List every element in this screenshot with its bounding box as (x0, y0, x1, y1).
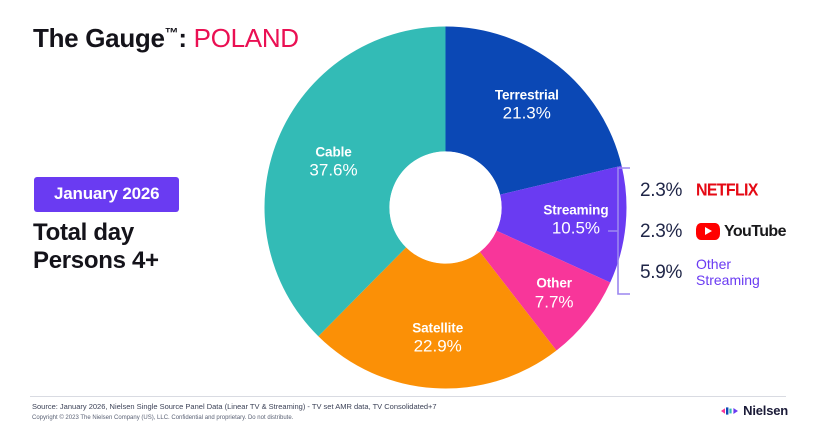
netflix-percent: 2.3% (640, 180, 696, 202)
nielsen-logo: Nielsen (721, 403, 788, 418)
slice-label-value: 22.9% (412, 337, 463, 356)
footer-divider (30, 396, 786, 397)
youtube-play-icon (696, 223, 720, 240)
month-badge: January 2026 (34, 177, 179, 212)
other-streaming-line-1: Other (696, 256, 731, 272)
donut-hole (390, 152, 502, 264)
gauge-slide: The Gauge™: POLAND January 2026 Total da… (0, 0, 816, 445)
netflix-wordmark: NETFLIX (696, 181, 758, 201)
other-streaming-text: Other Streaming (696, 257, 760, 288)
daypart-caption: Total day Persons 4+ (33, 219, 159, 275)
slice-label-other: Other7.7% (535, 276, 574, 311)
slice-label-name: Other (535, 276, 574, 291)
other-streaming-percent: 5.9% (640, 262, 696, 284)
donut-chart: Terrestrial21.3%Streaming10.5%Other7.7%S… (263, 25, 628, 390)
slice-label-value: 10.5% (543, 219, 608, 238)
slice-label-name: Streaming (543, 203, 608, 218)
slice-label-satellite: Satellite22.9% (412, 321, 463, 356)
list-item: 2.3% NETFLIX (640, 170, 810, 211)
title-main: The Gauge (33, 23, 165, 53)
daypart-line-2: Persons 4+ (33, 247, 159, 275)
netflix-logo: NETFLIX (696, 182, 758, 200)
streaming-bracket-icon (608, 167, 632, 295)
list-item: 2.3% YouTube (640, 211, 810, 252)
slice-label-value: 21.3% (495, 103, 559, 122)
nielsen-mark-icon (721, 405, 738, 417)
slice-label-value: 37.6% (309, 160, 357, 179)
streaming-breakout-list: 2.3% NETFLIX 2.3% YouTube 5.9% Other Str… (640, 170, 810, 293)
youtube-wordmark: YouTube (724, 223, 786, 241)
slice-label-name: Terrestrial (495, 87, 559, 102)
trademark-icon: ™ (165, 24, 179, 40)
list-item: 5.9% Other Streaming (640, 252, 810, 293)
other-streaming-label: Other Streaming (696, 257, 760, 288)
title-separator: : (178, 23, 186, 53)
slice-label-value: 7.7% (535, 292, 574, 311)
youtube-logo: YouTube (696, 223, 786, 241)
slice-label-terrestrial: Terrestrial21.3% (495, 87, 559, 122)
slice-label-name: Cable (309, 144, 357, 159)
slice-label-streaming: Streaming10.5% (543, 203, 608, 238)
slice-label-name: Satellite (412, 321, 463, 336)
page-title: The Gauge™: POLAND (33, 23, 299, 54)
other-streaming-line-2: Streaming (696, 272, 760, 288)
source-note: Source: January 2026, Nielsen Single Sou… (32, 402, 437, 411)
daypart-line-1: Total day (33, 219, 159, 247)
youtube-percent: 2.3% (640, 221, 696, 243)
copyright-note: Copyright © 2023 The Nielsen Company (US… (32, 415, 293, 421)
nielsen-wordmark: Nielsen (743, 403, 788, 418)
slice-label-cable: Cable37.6% (309, 144, 357, 179)
